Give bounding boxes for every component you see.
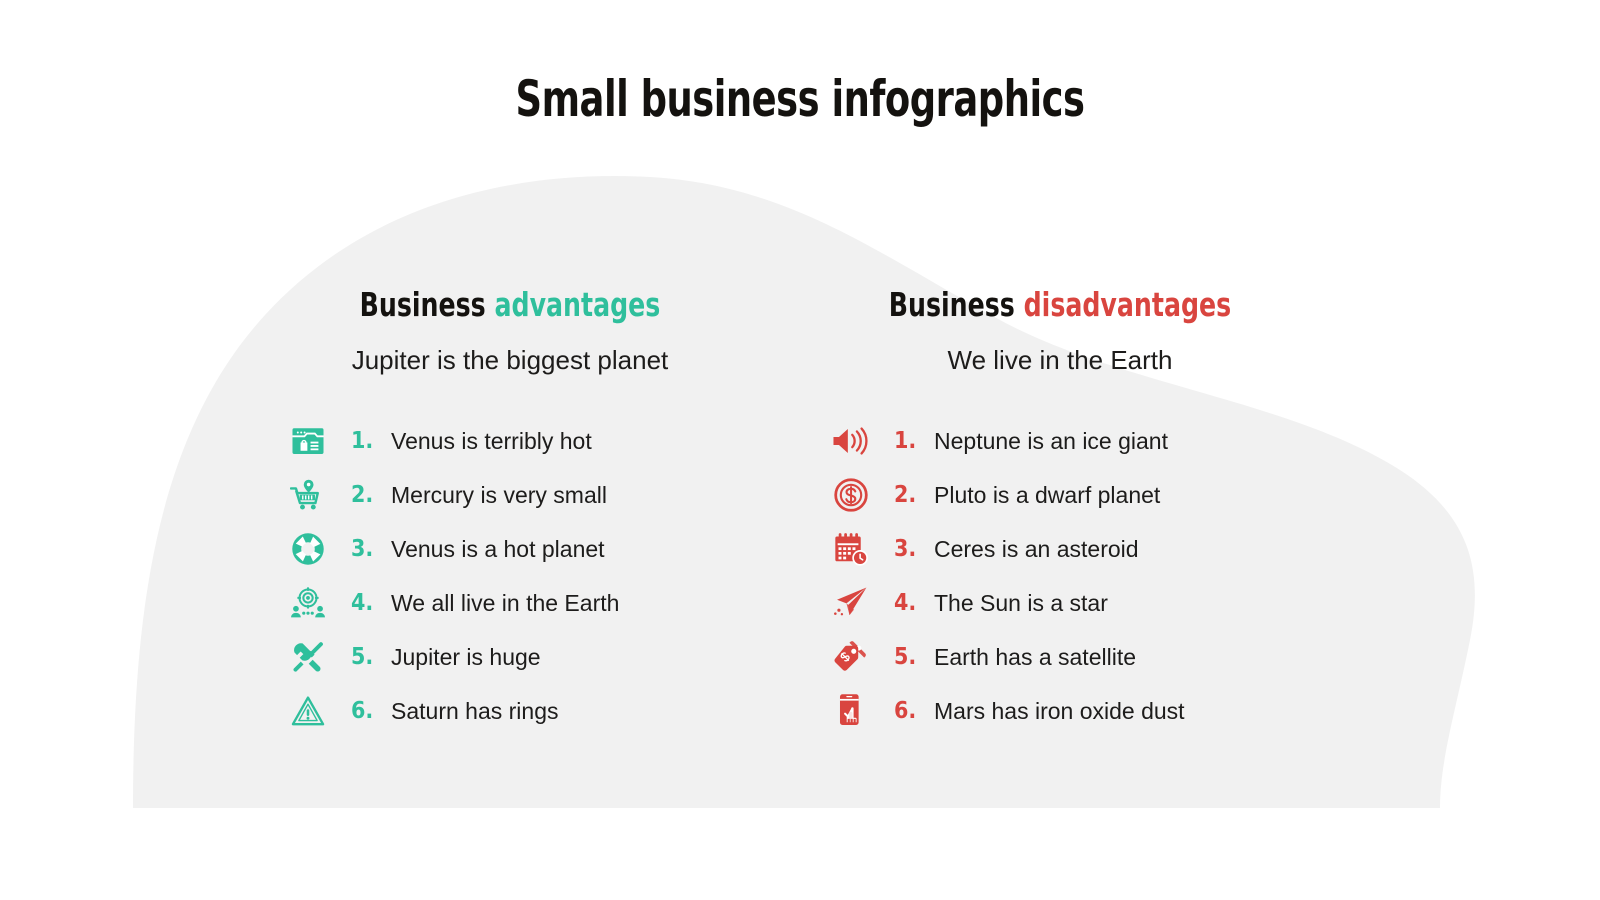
- list-item[interactable]: 5. Earth has a satellite: [750, 630, 1370, 684]
- item-text: We all live in the Earth: [383, 590, 619, 617]
- disadvantages-list: 1. Neptune is an ice giant: [750, 414, 1370, 738]
- warning-triangle-icon: [285, 691, 331, 731]
- item-number: 4.: [874, 590, 926, 616]
- list-item[interactable]: 1. Venus is terribly hot: [200, 414, 820, 468]
- item-number: 3.: [874, 536, 926, 562]
- price-tags-icon: [828, 637, 874, 677]
- item-text: Saturn has rings: [383, 698, 558, 725]
- item-number: 5.: [331, 644, 383, 670]
- item-number: 2.: [331, 482, 383, 508]
- slide-canvas: Small business infographics Business adv…: [0, 0, 1600, 900]
- heading-disadvantages: Business disadvantages: [797, 286, 1324, 324]
- heading-advantages: Business advantages: [247, 286, 774, 324]
- item-text: Earth has a satellite: [926, 644, 1136, 671]
- list-item[interactable]: 5. Jupiter is huge: [200, 630, 820, 684]
- tools-icon: [285, 637, 331, 677]
- shopping-cart-pin-icon: [285, 475, 331, 515]
- list-item[interactable]: 2. Pluto is a dwarf planet: [750, 468, 1370, 522]
- list-item[interactable]: 2. Mercury is very small: [200, 468, 820, 522]
- paper-plane-icon: [828, 583, 874, 623]
- item-text: Mars has iron oxide dust: [926, 698, 1185, 725]
- advantages-list: 1. Venus is terribly hot: [200, 414, 820, 738]
- list-item[interactable]: 4. We all live in the Earth: [200, 576, 820, 630]
- item-text: Mercury is very small: [383, 482, 607, 509]
- item-number: 6.: [874, 698, 926, 724]
- item-text: The Sun is a star: [926, 590, 1108, 617]
- calendar-clock-icon: [828, 529, 874, 569]
- heading-accent: disadvantages: [1024, 285, 1232, 324]
- subtitle-advantages: Jupiter is the biggest planet: [200, 344, 820, 376]
- heading-prefix: Business: [360, 285, 486, 324]
- item-number: 5.: [874, 644, 926, 670]
- item-number: 3.: [331, 536, 383, 562]
- item-text: Pluto is a dwarf planet: [926, 482, 1160, 509]
- item-text: Ceres is an asteroid: [926, 536, 1139, 563]
- mobile-tap-icon: [828, 691, 874, 731]
- heading-accent: advantages: [494, 285, 660, 324]
- item-text: Neptune is an ice giant: [926, 428, 1168, 455]
- item-number: 1.: [874, 428, 926, 454]
- item-text: Venus is a hot planet: [383, 536, 605, 563]
- list-item[interactable]: 6. Mars has iron oxide dust: [750, 684, 1370, 738]
- item-number: 6.: [331, 698, 383, 724]
- item-number: 4.: [331, 590, 383, 616]
- target-audience-icon: [285, 583, 331, 623]
- dollar-coin-icon: [828, 475, 874, 515]
- column-advantages: Business advantages Jupiter is the bigge…: [200, 286, 820, 376]
- list-item[interactable]: 6. Saturn has rings: [200, 684, 820, 738]
- column-disadvantages: Business disadvantages We live in the Ea…: [750, 286, 1370, 376]
- list-item[interactable]: 3. Venus is a hot planet: [200, 522, 820, 576]
- list-item[interactable]: 3. Ceres is an asteroid: [750, 522, 1370, 576]
- heading-prefix: Business: [889, 285, 1015, 324]
- item-number: 2.: [874, 482, 926, 508]
- item-text: Jupiter is huge: [383, 644, 541, 671]
- item-text: Venus is terribly hot: [383, 428, 592, 455]
- online-shop-icon: [285, 421, 331, 461]
- item-number: 1.: [331, 428, 383, 454]
- list-item[interactable]: 1. Neptune is an ice giant: [750, 414, 1370, 468]
- lifebuoy-icon: [285, 529, 331, 569]
- subtitle-disadvantages: We live in the Earth: [750, 344, 1370, 376]
- megaphone-speaker-icon: [828, 421, 874, 461]
- page-title: Small business infographics: [144, 70, 1456, 128]
- list-item[interactable]: 4. The Sun is a star: [750, 576, 1370, 630]
